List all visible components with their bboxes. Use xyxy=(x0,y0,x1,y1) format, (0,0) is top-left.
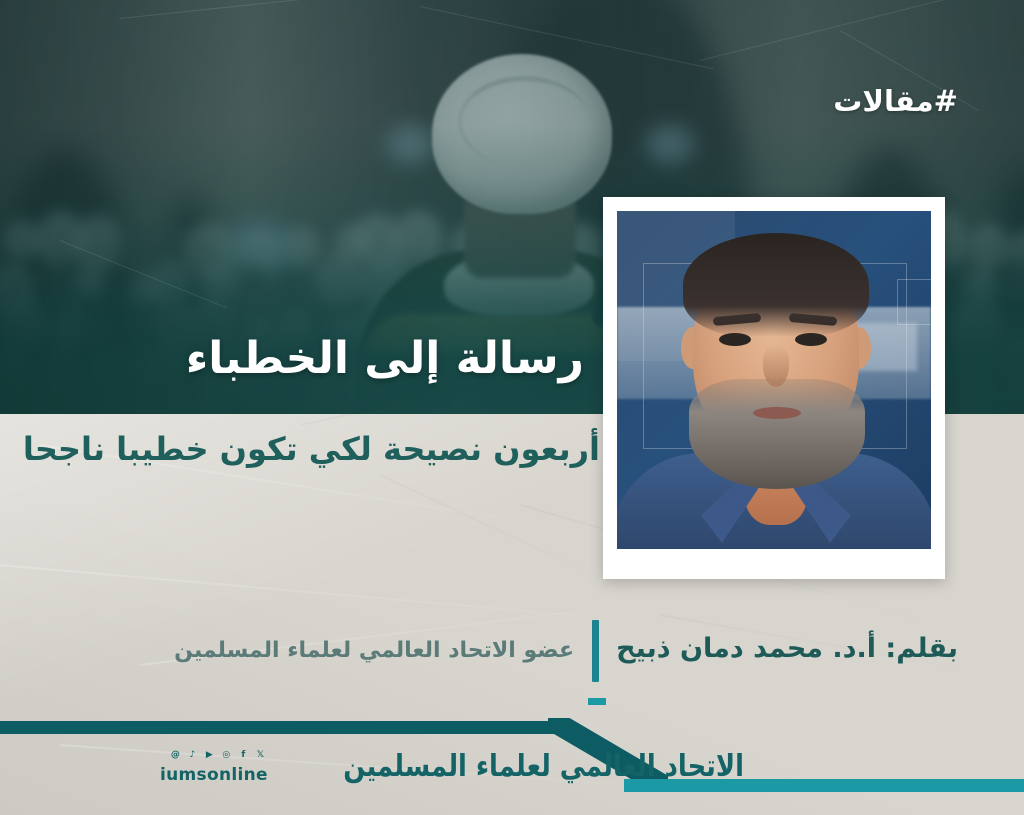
author-mouth xyxy=(753,407,801,419)
social-handle-column: 𝕏f◎▶♪@ iumsonline xyxy=(160,748,268,785)
decorative-bar-dark xyxy=(0,721,556,734)
logo-row: الاتحاد العالمي لعلماء المسلمين 𝕏f◎▶♪@ i… xyxy=(160,748,490,785)
social-icons[interactable]: 𝕏f◎▶♪@ xyxy=(168,748,268,763)
page-title: رسالة إلى الخطباء xyxy=(186,333,584,384)
author-beard xyxy=(689,379,865,489)
hashtag-label: #مقالات xyxy=(833,84,958,118)
accent-tick xyxy=(588,698,606,705)
x-twitter-icon[interactable]: 𝕏 xyxy=(253,748,268,763)
author-portrait-photo xyxy=(617,211,931,549)
author-nose xyxy=(763,345,789,387)
threads-icon[interactable]: @ xyxy=(168,748,183,763)
author-hair xyxy=(683,233,869,337)
author-byline: بقلم: أ.د. محمد دمان ذبيح xyxy=(616,633,958,664)
instagram-icon[interactable]: ◎ xyxy=(219,748,234,763)
article-poster: #مقالات رسالة إلى الخطباء أربعون نصيحة ل… xyxy=(0,0,1024,815)
author-portrait-frame xyxy=(603,197,945,579)
facebook-icon[interactable]: f xyxy=(236,748,251,763)
author-affiliation: عضو الاتحاد العالمي لعلماء المسلمين xyxy=(174,638,574,663)
footer-branding: الاتحاد العالمي لعلماء المسلمين 𝕏f◎▶♪@ i… xyxy=(160,748,490,804)
byline-divider xyxy=(592,620,599,682)
tiktok-icon[interactable]: ♪ xyxy=(185,748,200,763)
social-handle: iumsonline xyxy=(160,765,268,785)
youtube-icon[interactable]: ▶ xyxy=(202,748,217,763)
page-subtitle: أربعون نصيحة لكي تكون خطيبا ناجحا xyxy=(23,430,600,468)
iums-calligraphy-logo: الاتحاد العالمي لعلماء المسلمين xyxy=(343,752,744,782)
